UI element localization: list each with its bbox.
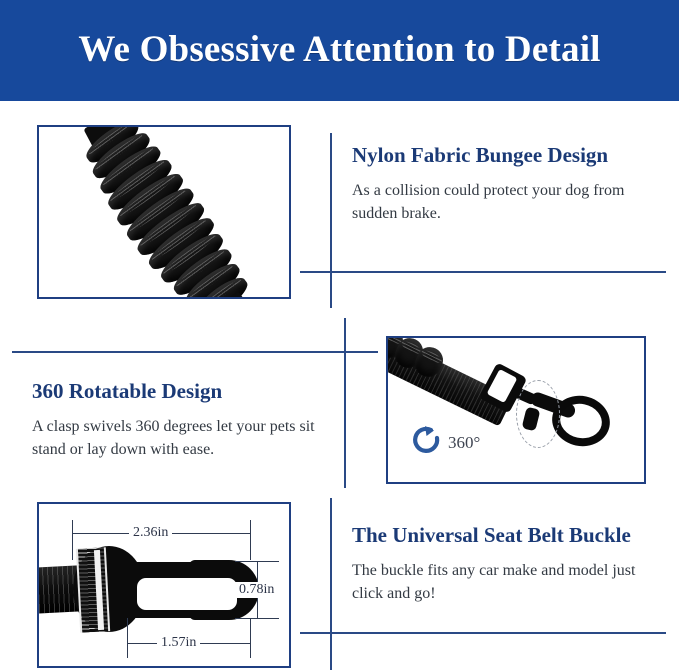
dim-bottom-tick-right bbox=[250, 618, 251, 658]
feature-text-buckle: The Universal Seat Belt Buckle The buckl… bbox=[352, 524, 664, 605]
feature-image-buckle: 2.36in 0.78in 1.57in bbox=[37, 502, 291, 668]
buckle-webbing-loop bbox=[76, 547, 110, 632]
divider-horizontal-1 bbox=[300, 271, 666, 273]
divider-vertical-2 bbox=[344, 351, 346, 488]
feature-image-bungee bbox=[37, 125, 291, 299]
dim-top-label: 2.36in bbox=[129, 525, 172, 541]
header-banner: We Obsessive Attention to Detail bbox=[0, 0, 679, 98]
divider-horizontal-2 bbox=[12, 351, 378, 353]
feature-image-rotatable: 360° bbox=[386, 336, 646, 484]
bungee-photo bbox=[39, 127, 289, 297]
banner-underline bbox=[0, 98, 679, 101]
feature-heading-rotatable: 360 Rotatable Design bbox=[32, 380, 332, 403]
feature-text-bungee: Nylon Fabric Bungee Design As a collisio… bbox=[352, 144, 664, 225]
divider-vertical-3 bbox=[330, 498, 332, 633]
divider-vertical-1 bbox=[330, 133, 332, 272]
feature-heading-buckle: The Universal Seat Belt Buckle bbox=[352, 524, 664, 547]
rotate-arrow-icon bbox=[410, 424, 444, 458]
feature-text-rotatable: 360 Rotatable Design A clasp swivels 360… bbox=[32, 380, 332, 461]
feature-body-bungee: As a collision could protect your dog fr… bbox=[352, 179, 664, 225]
dim-top-tick-left bbox=[72, 520, 73, 560]
bungee-cord-illustration bbox=[37, 125, 291, 299]
divider-vertical-3-lower bbox=[330, 632, 332, 670]
dim-right-label: 0.78in bbox=[235, 582, 278, 598]
dim-bottom-label: 1.57in bbox=[157, 635, 200, 651]
feature-body-buckle: The buckle fits any car make and model j… bbox=[352, 559, 664, 605]
rotation-degree-label: 360° bbox=[448, 433, 480, 453]
buckle-tongue-slot bbox=[137, 578, 237, 610]
feature-heading-bungee: Nylon Fabric Bungee Design bbox=[352, 144, 664, 167]
swivel-highlight-ellipse bbox=[516, 380, 560, 448]
page-title: We Obsessive Attention to Detail bbox=[78, 28, 600, 71]
dim-bottom-tick-left bbox=[127, 618, 128, 658]
feature-body-rotatable: A clasp swivels 360 degrees let your pet… bbox=[32, 415, 332, 461]
dim-top-tick-right bbox=[250, 520, 251, 560]
divider-vertical-2-upper bbox=[344, 318, 346, 352]
divider-horizontal-3 bbox=[300, 632, 666, 634]
infographic-page: We Obsessive Attention to Detail bbox=[0, 0, 679, 672]
divider-vertical-1-lower bbox=[330, 271, 332, 308]
